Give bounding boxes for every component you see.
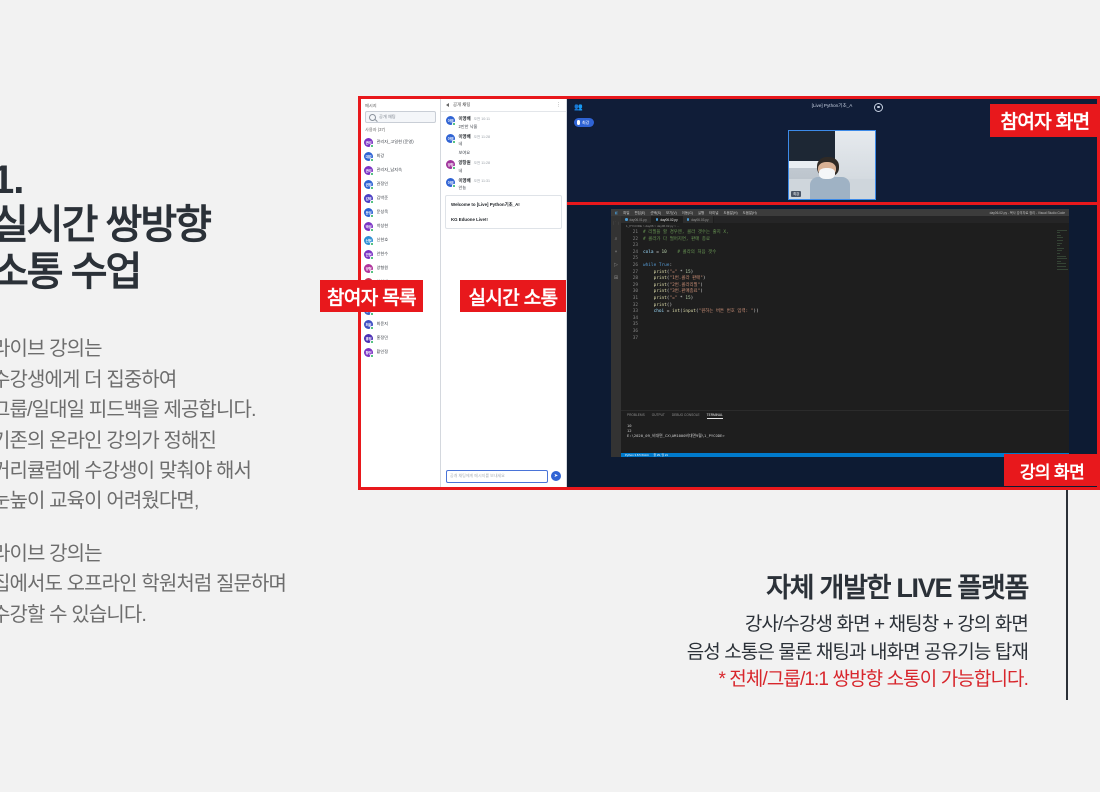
list-item[interactable]: 권정권정인 [364, 177, 437, 191]
chevron-left-icon[interactable] [446, 103, 449, 107]
menu-item[interactable]: 편집(E) [634, 211, 645, 215]
code-line: 34 [621, 316, 1069, 323]
tab-label: day06.03.py [691, 218, 708, 222]
avatar: 이영 [446, 134, 455, 143]
chat-header: 공개 채팅 ⋮ [441, 99, 566, 112]
file-icon [625, 218, 628, 221]
chat-author: 이영배 [459, 134, 471, 140]
chat-text: 2만한 낙울 [459, 124, 490, 130]
chat-author: 양창원 [459, 160, 471, 166]
panel-tab[interactable]: DEBUG CONSOLE [672, 413, 700, 419]
user-name: 관리자_고일현 (운영) [377, 139, 414, 145]
minimap-line [1057, 245, 1060, 246]
run-debug-icon[interactable]: ▷ [614, 262, 618, 268]
line-number: 30 [621, 289, 643, 296]
chat-title: 공개 채팅 [453, 102, 470, 108]
user-count-label: 사용자 (37) [361, 123, 440, 135]
vscode-minimap[interactable] [1055, 228, 1069, 411]
user-list: 관리관리자_고일현 (운영)대강최강관리관리자_남지숙권정권정인김박김박준문성문… [361, 135, 440, 359]
user-name: 신현호 [377, 237, 389, 243]
list-item[interactable]: 관리관리자_남지숙 [364, 163, 437, 177]
list-item[interactable]: 황인황인정 [364, 345, 437, 359]
menu-item[interactable]: 이동(G) [682, 211, 693, 215]
user-name: 권정인 [377, 181, 389, 187]
platform-line-1: 강사/수강생 화면 + 채팅창 + 강의 화면 [468, 611, 1028, 639]
editor-tab[interactable]: day06.02.py [652, 216, 683, 223]
send-icon[interactable]: ➤ [551, 471, 561, 481]
list-item[interactable]: 신현신현호 [364, 233, 437, 247]
line-number: 29 [621, 283, 643, 290]
code-line: 25 [621, 256, 1069, 263]
line-number: 36 [621, 329, 643, 336]
tile-name-label: 최강 [791, 191, 801, 197]
left-copy-block: 1. 실시간 쌍방향 소통 수업 라이브 강의는 수강생에게 더 집중하여 그룹… [0, 160, 372, 630]
line-number: 24 [621, 250, 643, 257]
avatar: 박성 [364, 222, 373, 231]
section-number: 1. [0, 160, 372, 200]
code-line: 33 choi = int(input("원하는 버튼 번호 입력: ")) [621, 309, 1069, 316]
user-name: 최윤지 [377, 321, 389, 327]
user-name: 황인정 [377, 349, 389, 355]
list-item[interactable]: 안현안현수 [364, 247, 437, 261]
code-line: 22# 콜라가 다 떨어지면, 판매 종료 [621, 237, 1069, 244]
panel-tab[interactable]: TERMINAL [707, 413, 723, 419]
lecture-screen-area: ◧ 파일편집(E)선택(S)보기(V)이동(G)실행터미널도움말(H)도움말(H… [567, 205, 1097, 487]
avatar: 김박 [364, 194, 373, 203]
tab-label: day06.02.py [660, 218, 677, 222]
user-name: 김박준 [377, 195, 389, 201]
code-line: 30 print("3번.판매종료") [621, 289, 1069, 296]
minimap-line [1057, 232, 1060, 233]
avatar: 황인 [364, 348, 373, 357]
list-item[interactable]: 관리관리자_고일현 (운영) [364, 135, 437, 149]
platform-title: 자체 개발한 LIVE 플랫폼 [468, 566, 1028, 605]
user-name: 홍정민 [377, 335, 389, 341]
chat-timestamp: 오전 11:31 [474, 179, 490, 184]
line-number: 27 [621, 270, 643, 277]
vscode-panel-tabs[interactable]: PROBLEMSOUTPUTDEBUG CONSOLETERMINAL [621, 411, 1069, 421]
callout-live-chat: 실시간 소통 [460, 280, 566, 312]
more-vertical-icon[interactable]: ⋮ [556, 103, 561, 107]
minimap-line [1057, 243, 1062, 244]
status-left-text: Python 3.8.5 64-bit [625, 453, 648, 457]
minimap-line [1057, 261, 1061, 262]
chat-message: 이영이영배오전 10:112만한 낙울 [446, 116, 561, 130]
search-icon[interactable]: ⌕ [615, 236, 618, 242]
poster-page: 1. 실시간 쌍방향 소통 수업 라이브 강의는 수강생에게 더 집중하여 그룹… [0, 0, 1100, 792]
chat-message-list: 이영이영배오전 10:112만한 낙울이영이영배오전 11:28네보여요양창양창… [441, 112, 566, 191]
list-item[interactable]: 대강최강 [364, 149, 437, 163]
vscode-menubar: ◧ 파일편집(E)선택(S)보기(V)이동(G)실행터미널도움말(H)도움말(H… [611, 209, 1069, 216]
avatar: 대강 [364, 152, 373, 161]
chat-message: 이영이영배오전 11:28네보여요 [446, 134, 561, 157]
callout-participant-list: 참여자 목록 [320, 280, 423, 312]
avatar: 안현 [364, 250, 373, 259]
chat-message: 이영이영배오전 11:31안뇽 [446, 178, 561, 192]
minimap-line [1057, 263, 1066, 264]
right-copy-block: 자체 개발한 LIVE 플랫폼 강사/수강생 화면 + 채팅창 + 강의 화면 … [468, 566, 1028, 694]
code-line: 28 print("1번.콜라 판매") [621, 276, 1069, 283]
avatar: 문성 [364, 208, 373, 217]
chat-input-placeholder: 공개 채팅에게 메시지를 보내세요 [450, 473, 505, 479]
line-number: 25 [621, 256, 643, 263]
minimap-line [1057, 237, 1063, 238]
welcome-box: Welcome to [Live] Python기초_A! KG Eduone … [445, 195, 562, 229]
user-name: 문성욱 [377, 209, 389, 215]
file-icon [687, 218, 690, 221]
chat-message: 양창양창원오전 11:28네 [446, 160, 561, 174]
tile-person-mask [819, 168, 835, 179]
line-number: 22 [621, 237, 643, 244]
messages-header: 메시지 [361, 99, 440, 111]
code-line: 21# 리필을 할 경우엔, 콜라 갯수는 줄지 X, [621, 230, 1069, 237]
vscode-code-editor[interactable]: 21# 리필을 할 경우엔, 콜라 갯수는 줄지 X,22# 콜라가 다 떨어지… [621, 228, 1069, 411]
code-line: 35 [621, 322, 1069, 329]
line-number: 26 [621, 263, 643, 270]
menu-item[interactable]: 보기(V) [666, 211, 677, 215]
chat-timestamp: 오전 10:11 [474, 117, 490, 122]
line-number: 28 [621, 276, 643, 283]
list-item[interactable]: 김박김박준 [364, 191, 437, 205]
minimap-line [1057, 266, 1066, 267]
vscode-terminal-output[interactable]: 10 12 E:\2020_09_비대면_CX\AM1000비대면9월\1_PY… [621, 421, 1069, 441]
active-speaker-badge: 최강 [574, 118, 594, 127]
menu-item[interactable]: 파일 [623, 211, 629, 215]
vscode-activity-bar: 🗀 ⌕ ⑂ ▷ ⊞ [611, 216, 621, 457]
vscode-body: 🗀 ⌕ ⑂ ▷ ⊞ day06.01.pyday06.02.pyday06.03… [611, 216, 1069, 457]
menu-item[interactable]: 실행 [698, 211, 704, 215]
chat-author: 이영배 [459, 178, 471, 184]
chat-text: 네 [459, 141, 490, 147]
extensions-icon[interactable]: ⊞ [614, 275, 618, 281]
user-name: 양형원 [377, 265, 389, 271]
code-line: 36 [621, 329, 1069, 336]
chat-search-input[interactable]: 공개 채팅 [365, 111, 436, 123]
menu-item[interactable]: 도움말(H) [724, 211, 738, 215]
tab-label: day06.01.py [630, 218, 647, 222]
chat-timestamp: 오전 11:28 [474, 161, 490, 166]
code-line: 37 [621, 336, 1069, 343]
list-item[interactable]: 양형양형원 [364, 261, 437, 275]
vscode-editor-region: day06.01.pyday06.02.pyday06.03.py 1_PYCO… [621, 216, 1069, 457]
avatar: 관리 [364, 166, 373, 175]
vscode-tab-bar: day06.01.pyday06.02.pyday06.03.py [621, 216, 1069, 223]
status-right-text: 줄 29, 열 21 [653, 453, 667, 457]
vscode-status-bar: Python 3.8.5 64-bit 줄 29, 열 21 [621, 453, 1069, 458]
minimap-line [1057, 250, 1062, 251]
chat-timestamp: 오전 11:28 [474, 135, 490, 140]
minimap-line [1057, 235, 1061, 236]
avatar: 권정 [364, 180, 373, 189]
tile-person-body [810, 177, 850, 199]
user-name: 최강 [377, 153, 385, 159]
body-paragraph-1: 라이브 강의는 수강생에게 더 집중하여 그룹/일대일 피드백을 제공합니다. … [0, 334, 372, 516]
vscode-logo-icon: ◧ [615, 211, 618, 215]
explorer-icon[interactable]: 🗀 [613, 221, 618, 229]
minimap-line [1057, 240, 1063, 241]
avatar: 양형 [364, 264, 373, 273]
avatar: 이영 [446, 178, 455, 187]
video-tile[interactable]: 최강 [788, 130, 876, 200]
callout-lecture-screen: 강의 화면 [1004, 454, 1100, 486]
avatar: 양창 [446, 160, 455, 169]
platform-line-2: 음성 소통은 물론 채팅과 내화면 공유기능 탑재 [468, 639, 1028, 667]
panel-tab[interactable]: PROBLEMS [627, 413, 645, 419]
avatar: 신현 [364, 236, 373, 245]
list-item[interactable]: 문성문성욱 [364, 205, 437, 219]
line-number: 34 [621, 316, 643, 323]
chat-text: 안뇽 [459, 185, 490, 191]
vscode-window: ◧ 파일편집(E)선택(S)보기(V)이동(G)실행터미널도움말(H)도움말(H… [611, 209, 1069, 457]
minimap-line [1057, 269, 1068, 270]
user-name: 관리자_남지숙 [377, 167, 402, 173]
vscode-menu-items[interactable]: 파일편집(E)선택(S)보기(V)이동(G)실행터미널도움말(H)도움말(H) [623, 210, 761, 215]
list-item[interactable]: 최윤최윤지 [364, 317, 437, 331]
line-number: 31 [621, 296, 643, 303]
avatar: 최윤 [364, 320, 373, 329]
welcome-line-1: Welcome to [Live] Python기초_A! [451, 202, 556, 208]
chat-message-input[interactable]: 공개 채팅에게 메시지를 보내세요 [446, 470, 548, 483]
record-icon[interactable] [874, 103, 883, 112]
line-number: 37 [621, 336, 643, 343]
line-number: 21 [621, 230, 643, 237]
welcome-line-2: KG Eduone Live!! [451, 217, 556, 222]
chat-text-2: 보여요 [459, 150, 490, 156]
code-line: 23 [621, 243, 1069, 250]
vertical-divider [1066, 490, 1068, 700]
editor-tab[interactable]: day06.03.py [683, 216, 714, 223]
callout-participant-screen: 참여자 화면 [990, 104, 1100, 137]
magnifier-icon [369, 114, 376, 121]
chat-search-label: 공개 채팅 [379, 114, 396, 120]
code-line: 26while True: [621, 263, 1069, 270]
vscode-window-title: day06.02.py - 복사 강의자료 정리 - Visual Studio… [990, 210, 1065, 215]
page-title: 실시간 쌍방향 소통 수업 [0, 202, 372, 296]
minimap-line [1057, 253, 1060, 254]
active-speaker-name: 최강 [582, 120, 589, 126]
mic-icon [577, 120, 580, 125]
minimap-line [1057, 256, 1066, 257]
line-number: 35 [621, 322, 643, 329]
source-control-icon[interactable]: ⑂ [614, 249, 617, 255]
menu-item[interactable]: 터미널 [709, 211, 718, 215]
user-name: 안현수 [377, 251, 389, 257]
editor-tab[interactable]: day06.01.py [621, 216, 652, 223]
body-paragraph-2: 라이브 강의는 집에서도 오프라인 학원처럼 질문하며 수강할 수 있습니다. [0, 539, 372, 630]
list-item[interactable]: 박성박성현 [364, 219, 437, 233]
file-icon [656, 218, 659, 221]
menu-item[interactable]: 선택(S) [650, 211, 661, 215]
avatar: 관리 [364, 138, 373, 147]
line-number: 32 [621, 303, 643, 310]
chat-author: 이영배 [459, 116, 471, 122]
minimap-line [1057, 248, 1064, 249]
code-line: 31 print("=" * 15) [621, 296, 1069, 303]
minimap-line [1057, 230, 1067, 231]
menu-item[interactable]: 도움말(H) [743, 211, 757, 215]
panel-tab[interactable]: OUTPUT [652, 413, 665, 419]
code-line: 24cola = 10 # 콜라의 처음 갯수 [621, 250, 1069, 257]
minimap-line [1057, 258, 1067, 259]
platform-line-3: * 전체/그룹/1:1 쌍방향 소통이 가능합니다. [468, 666, 1028, 694]
chat-input-row: 공개 채팅에게 메시지를 보내세요 ➤ [441, 465, 566, 487]
vscode-bottom-panel: PROBLEMSOUTPUTDEBUG CONSOLETERMINAL 10 1… [621, 410, 1069, 453]
line-number: 23 [621, 243, 643, 250]
line-number: 33 [621, 309, 643, 316]
list-item[interactable]: 홍정홍정민 [364, 331, 437, 345]
avatar: 홍정 [364, 334, 373, 343]
avatar: 이영 [446, 116, 455, 125]
user-name: 박성현 [377, 223, 389, 229]
chat-text: 네 [459, 168, 490, 174]
